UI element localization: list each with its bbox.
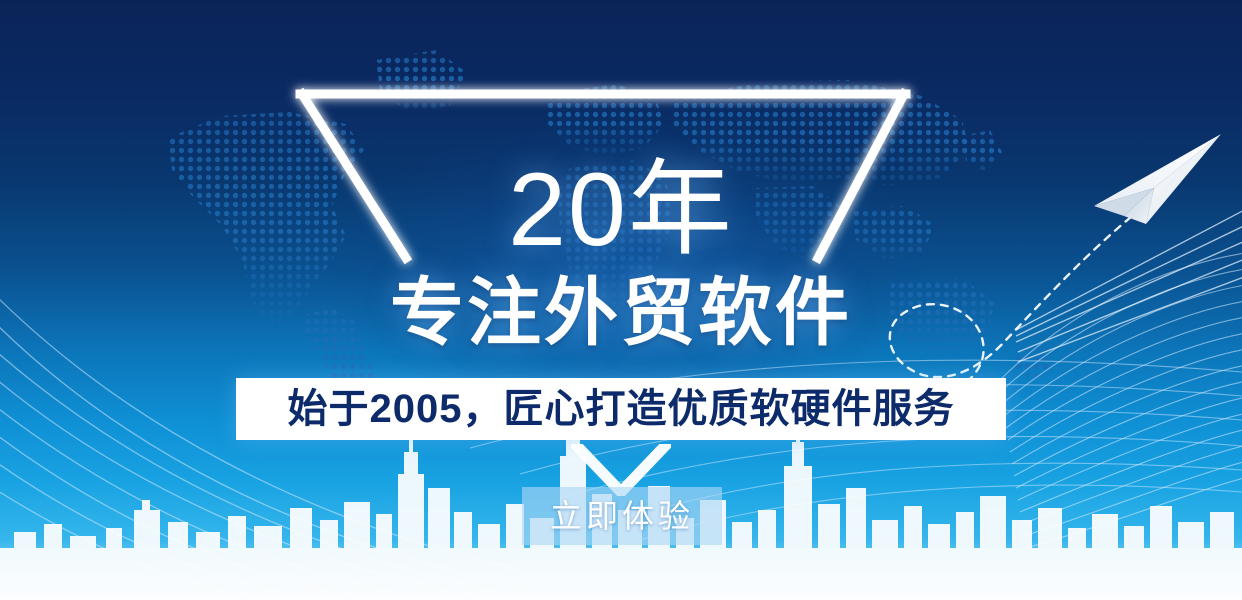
subtitle-text: 始于2005，匠心打造优质软硬件服务 (288, 389, 955, 429)
headline-text: 专注外贸软件 (0, 276, 1242, 350)
cta-try-now-button[interactable]: 立即体验 (522, 487, 722, 545)
years-title: 20年 (0, 158, 1242, 262)
promo-banner: 20年 专注外贸软件 始于2005，匠心打造优质软硬件服务 立即体验 (0, 0, 1242, 600)
subtitle-band: 始于2005，匠心打造优质软硬件服务 (236, 378, 1006, 440)
cta-label: 立即体验 (550, 500, 694, 532)
